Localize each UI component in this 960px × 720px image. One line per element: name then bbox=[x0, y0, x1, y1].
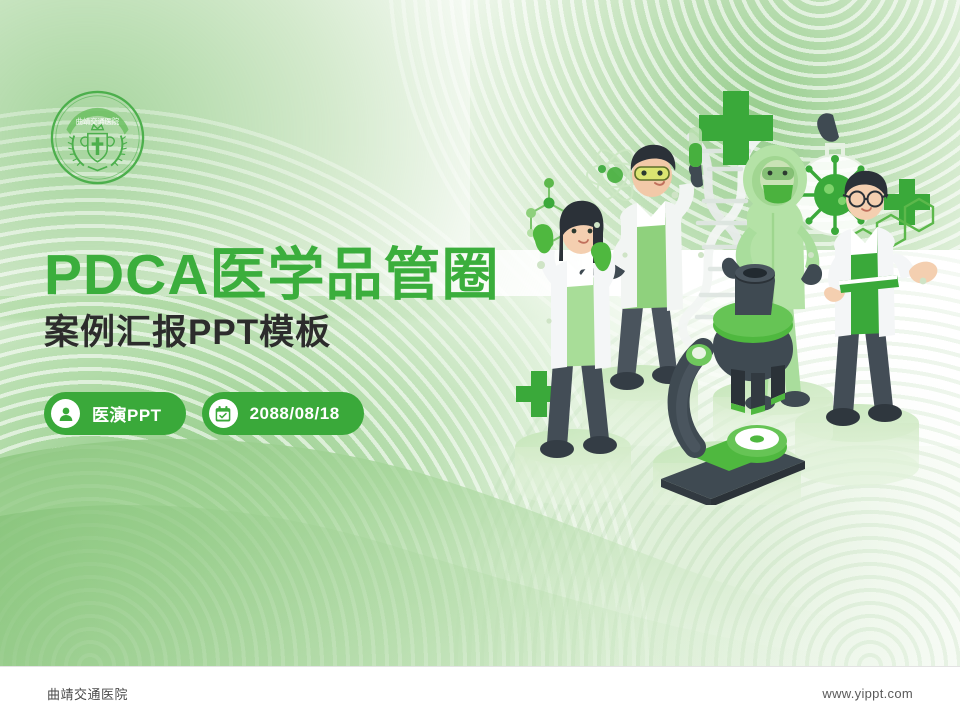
page-title: PDCA医学品管圈 bbox=[44, 246, 500, 305]
footer-bar: 曲靖交通医院 www.yippt.com bbox=[0, 666, 960, 720]
author-badge-label: 医演PPT bbox=[92, 401, 162, 426]
slide-root: 曲靖交通医院 bbox=[0, 0, 960, 720]
footer-website-url[interactable]: www.yippt.com bbox=[822, 686, 913, 701]
title-block: PDCA医学品管圈 案例汇报PPT模板 bbox=[44, 246, 500, 354]
date-badge[interactable]: 2088/08/18 bbox=[202, 392, 364, 435]
calendar-icon bbox=[209, 399, 238, 428]
person-icon bbox=[51, 399, 80, 428]
hospital-logo-icon: 曲靖交通医院 bbox=[49, 89, 146, 186]
footer-hospital-name: 曲靖交通医院 bbox=[47, 684, 128, 703]
page-subtitle: 案例汇报PPT模板 bbox=[44, 313, 500, 353]
date-badge-label: 2088/08/18 bbox=[250, 404, 340, 424]
slide-canvas: 曲靖交通医院 bbox=[0, 0, 960, 666]
medical-research-team-illustration bbox=[505, 75, 960, 505]
female-scientist-figure bbox=[533, 201, 617, 458]
hospital-logo: 曲靖交通医院 bbox=[49, 89, 146, 186]
meta-badges-row: 医演PPT 2088/08/18 bbox=[44, 392, 364, 435]
author-badge[interactable]: 医演PPT bbox=[44, 392, 186, 435]
svg-text:曲靖交通医院: 曲靖交通医院 bbox=[76, 117, 120, 126]
